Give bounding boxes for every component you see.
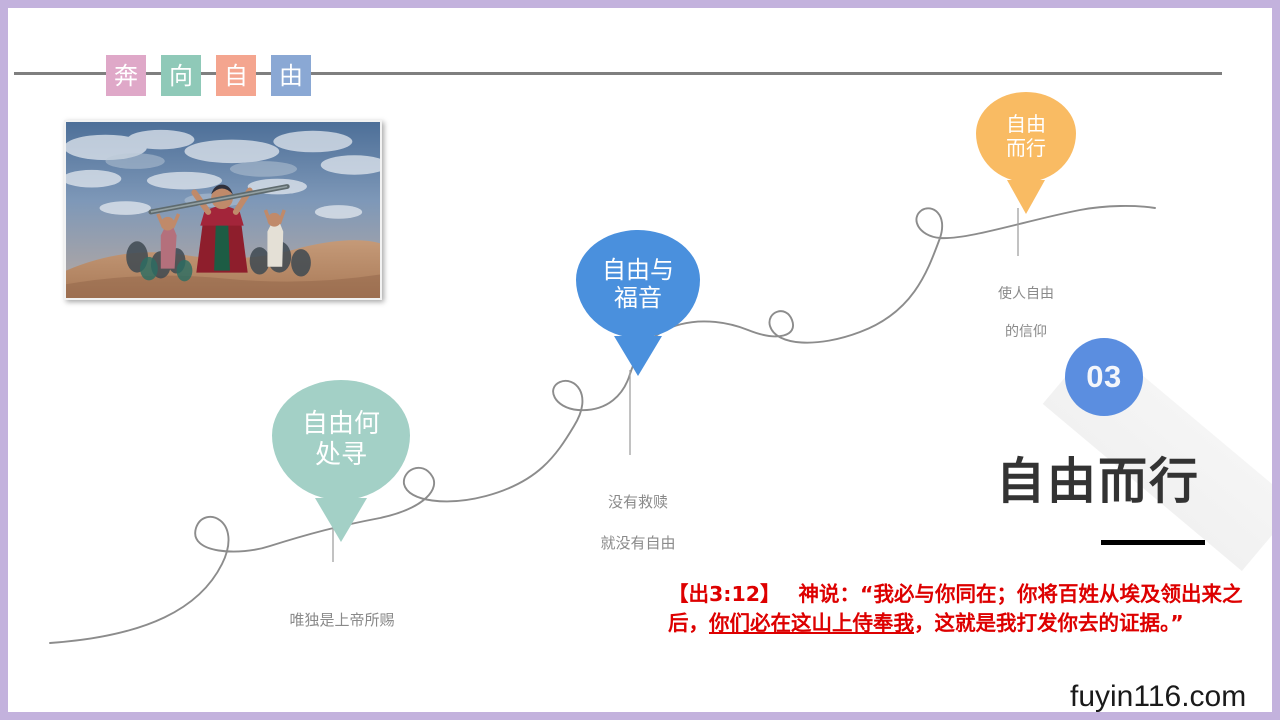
header-box-1: 奔 [106,55,146,96]
scripture-reference: 【出3:12】 [668,582,781,606]
pin-1-caption: 唯独是上帝所赐 [242,590,442,651]
pin-3-label-line-2: 而行 [1006,137,1046,161]
pin-3-caption-line-2: 的信仰 [958,323,1094,342]
pin-3-label-line-1: 自由 [1006,113,1046,137]
title-underline-bar [1101,540,1205,545]
journey-pin-2[interactable]: 自由与 福音 [576,230,700,338]
scripture-part-2: ，这就是我打发你去的证据。” [914,611,1184,635]
pin-3-caption: 使人自由 的信仰 [958,266,1094,360]
pin-1-caption-line-1: 唯独是上帝所赐 [242,610,442,630]
journey-pin-3[interactable]: 自由 而行 [976,92,1076,182]
section-number-badge: 03 [1065,338,1143,416]
pin-2-tail [614,336,662,376]
pin-2-caption: 没有救赎 就没有自由 [550,472,726,573]
illustration-artwork [66,122,380,298]
pin-2-bulb: 自由与 福音 [576,230,700,338]
header-box-char-2: 向 [169,64,193,88]
header-box-char-3: 自 [224,64,248,88]
journey-pin-1[interactable]: 自由何 处寻 [272,380,410,500]
pin-1-tail [315,498,367,542]
scripture-underlined: 你们必在这山上侍奉我 [709,611,914,635]
slide-frame: 奔 向 自 由 [0,0,1280,720]
pin-3-caption-line-1: 使人自由 [958,285,1094,304]
header-box-2: 向 [161,55,201,96]
pin-3-tail [1007,180,1045,214]
section-number-text: 03 [1086,359,1121,395]
header-box-char-4: 由 [279,64,303,88]
pin-2-label-line-2: 福音 [614,284,662,312]
moses-illustration-image [64,120,382,300]
header-box-4: 由 [271,55,311,96]
header-box-3: 自 [216,55,256,96]
pin-2-label-line-1: 自由与 [602,256,674,284]
slide-canvas: 奔 向 自 由 [8,8,1272,712]
pin-3-bulb: 自由 而行 [976,92,1076,182]
header-box-char-1: 奔 [114,64,138,88]
site-watermark: fuyin116.com [1068,680,1248,712]
pin-2-caption-line-1: 没有救赎 [550,492,726,512]
pin-1-bulb: 自由何 处寻 [272,380,410,500]
pin-2-caption-line-2: 就没有自由 [550,533,726,553]
pin-1-label-line-1: 自由何 [302,409,380,440]
page-title: 自由而行 [996,442,1200,513]
header-title-blocks: 奔 向 自 由 [106,55,311,96]
pin-1-label-line-2: 处寻 [315,440,367,471]
scripture-quote: 【出3:12】神说：“我必与你同在；你将百姓从埃及领出来之后，你们必在这山上侍奉… [668,580,1258,638]
